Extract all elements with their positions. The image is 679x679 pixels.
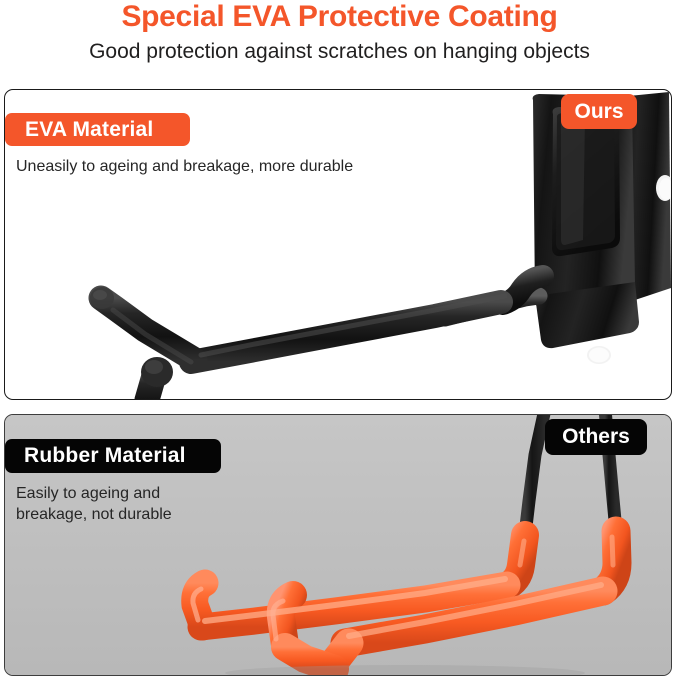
badge-rubber-material: Rubber Material bbox=[5, 439, 221, 473]
page-subtitle: Good protection against scratches on han… bbox=[0, 38, 679, 66]
comparison-infographic: Special EVA Protective Coating Good prot… bbox=[0, 0, 679, 679]
description-others: Easily to ageing and breakage, not durab… bbox=[16, 483, 316, 525]
header: Special EVA Protective Coating Good prot… bbox=[0, 0, 679, 78]
badge-eva-material: EVA Material bbox=[5, 113, 190, 146]
description-ours: Uneasily to ageing and breakage, more du… bbox=[16, 156, 446, 177]
badge-ours: Ours bbox=[561, 94, 637, 129]
badge-others: Others bbox=[545, 419, 647, 455]
page-title: Special EVA Protective Coating bbox=[0, 0, 679, 35]
